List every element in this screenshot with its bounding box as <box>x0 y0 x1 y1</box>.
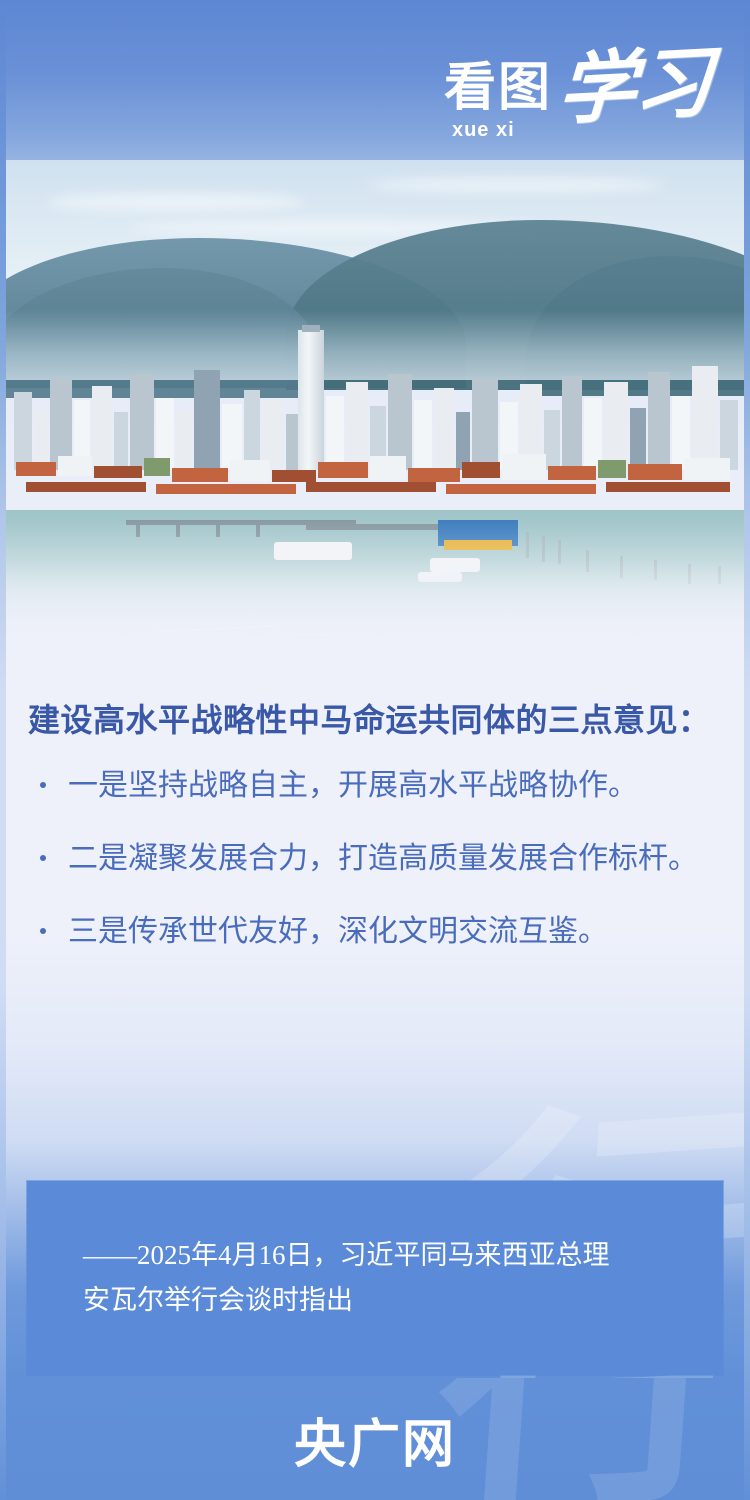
hero-photo <box>6 160 744 680</box>
list-item: 三是传承世代友好，深化文明交流互鉴。 <box>40 912 750 951</box>
list-item-label: 二是凝聚发展合力，打造高质量发展合作标杆。 <box>68 839 698 878</box>
photo-bottom-fade <box>6 520 744 680</box>
bullet-dot-icon <box>40 928 46 934</box>
brand-logo: 看图 学习 xue xi <box>444 48 710 140</box>
page-title: 建设高水平战略性中马命运共同体的三点意见： <box>28 700 750 740</box>
poster-footer: 行 央广网 <box>0 1378 750 1500</box>
list-item: 一是坚持战略自主，开展高水平战略协作。 <box>40 766 750 805</box>
brand-kantu-text: 看图 <box>444 62 552 114</box>
attribution-line-2: 安瓦尔举行会谈时指出 <box>83 1278 693 1323</box>
content-block: 建设高水平战略性中马命运共同体的三点意见： 一是坚持战略自主，开展高水平战略协作… <box>0 700 750 985</box>
attribution-box: ——2025年4月16日，习近平同马来西亚总理 安瓦尔举行会谈时指出 <box>27 1181 723 1375</box>
left-edge-strip <box>0 0 6 1500</box>
footer-watermark-glyph: 行 <box>430 1378 749 1500</box>
poster-root: 看图 学习 xue xi <box>0 0 750 1500</box>
bullet-dot-icon <box>40 855 46 861</box>
attribution-line-1: ——2025年4月16日，习近平同马来西亚总理 <box>83 1233 693 1278</box>
right-edge-strip <box>744 0 750 1500</box>
list-item-label: 一是坚持战略自主，开展高水平战略协作。 <box>68 766 638 805</box>
list-item: 二是凝聚发展合力，打造高质量发展合作标杆。 <box>40 839 750 878</box>
list-item-label: 三是传承世代友好，深化文明交流互鉴。 <box>68 912 608 951</box>
bullet-list: 一是坚持战略自主，开展高水平战略协作。 二是凝聚发展合力，打造高质量发展合作标杆… <box>0 766 750 951</box>
brand-xuexi-calligraphy: 学习 <box>556 44 713 130</box>
publisher-logo: 央广网 <box>294 1402 456 1477</box>
old-town-roofs <box>6 432 744 518</box>
bullet-dot-icon <box>40 782 46 788</box>
poster-header: 看图 学习 xue xi <box>0 0 750 185</box>
